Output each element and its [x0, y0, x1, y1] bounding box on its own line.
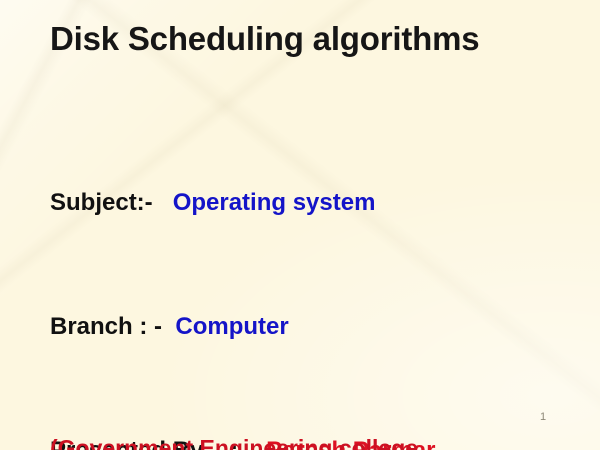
branch-separator — [162, 313, 175, 340]
branch-label: Branch : - — [50, 313, 162, 340]
branch-value: Computer — [175, 313, 288, 340]
page-title: Disk Scheduling algorithms — [50, 20, 479, 58]
presentation-slide: Disk Scheduling algorithms Subject:- Ope… — [0, 0, 600, 450]
slide-number: 1 — [540, 411, 546, 423]
institution-footer: (Government Engineering college , Bhavna… — [50, 373, 437, 450]
text-line-branch: Branch : - Computer — [50, 311, 464, 342]
subject-value: Operating system — [173, 189, 376, 216]
subject-label: Subject:- — [50, 189, 153, 216]
subject-separator — [153, 189, 173, 216]
institution-line-1: (Government Engineering college , — [50, 433, 437, 450]
text-line-subject: Subject:- Operating system — [50, 187, 464, 218]
